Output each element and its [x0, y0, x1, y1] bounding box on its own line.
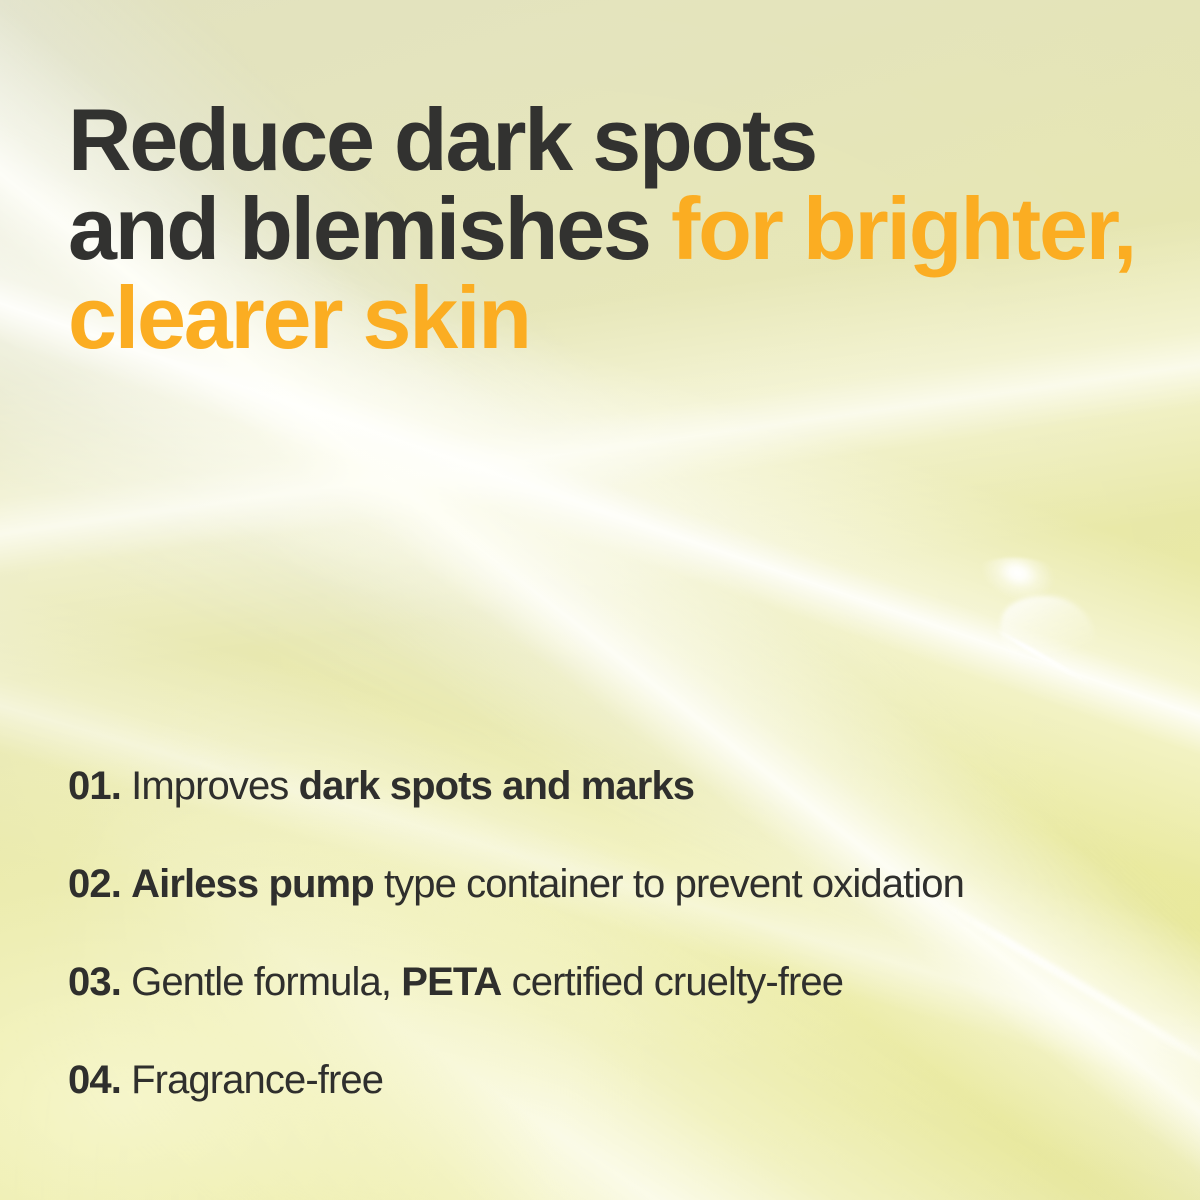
product-benefits-banner: Reduce dark spotsand blemishes for brigh… — [0, 0, 1200, 1200]
feature-lead-01: Improves — [121, 764, 299, 808]
feature-emphasis-01: dark spots and marks — [299, 764, 695, 808]
feature-item-04: 04. Fragrance-free — [68, 1056, 1158, 1104]
headline: Reduce dark spotsand blemishes for brigh… — [68, 95, 1158, 362]
feature-number-03: 03. — [68, 960, 121, 1004]
headline-line-1: Reduce dark spots — [68, 90, 816, 189]
feature-item-01: 01. Improves dark spots and marks — [68, 762, 1158, 810]
headline-line-3-accent: clearer skin — [68, 268, 530, 367]
feature-number-04: 04. — [68, 1058, 121, 1102]
feature-lead-03: Gentle formula, — [121, 960, 401, 1004]
headline-line-2-dark: and blemishes — [68, 179, 671, 278]
feature-lead-04: Fragrance-free — [121, 1058, 383, 1102]
feature-number-02: 02. — [68, 862, 121, 906]
feature-item-02: 02. Airless pump type container to preve… — [68, 860, 1158, 908]
banner-content: Reduce dark spotsand blemishes for brigh… — [0, 0, 1200, 1200]
feature-emphasis-03: PETA — [401, 960, 501, 1004]
feature-lead-02 — [121, 862, 131, 906]
feature-tail-02: type container to prevent oxidation — [374, 862, 964, 906]
feature-emphasis-02: Airless pump — [131, 862, 374, 906]
feature-list: 01. Improves dark spots and marks 02. Ai… — [68, 762, 1158, 1104]
headline-line-2-accent: for brighter, — [671, 179, 1135, 278]
feature-item-03: 03. Gentle formula, PETA certified cruel… — [68, 958, 1158, 1006]
feature-tail-03: certified cruelty-free — [501, 960, 843, 1004]
feature-number-01: 01. — [68, 764, 121, 808]
